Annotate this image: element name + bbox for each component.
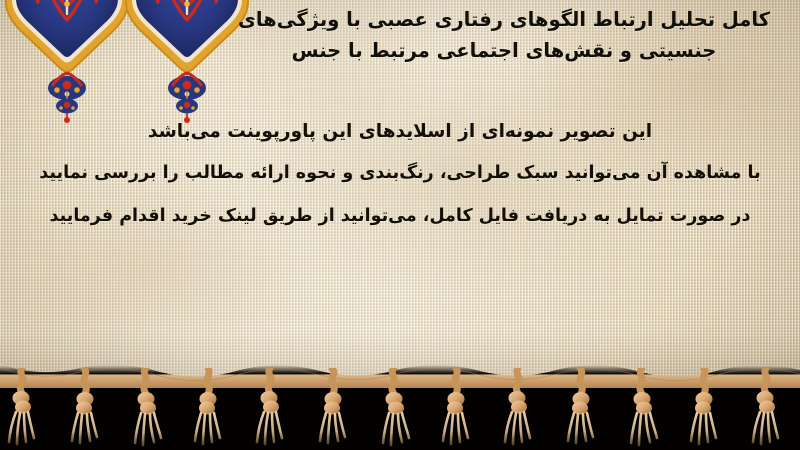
black-backdrop xyxy=(0,380,800,450)
slide-title: کامل تحلیل ارتباط الگوهای رفتاری عصبی با… xyxy=(224,4,784,66)
slide-title-line-1: کامل تحلیل ارتباط الگوهای رفتاری عصبی با… xyxy=(224,4,784,35)
slide-canvas: کامل تحلیل ارتباط الگوهای رفتاری عصبی با… xyxy=(0,0,800,450)
body-line-3: در صورت تمایل به دریافت فایل کامل، می‌تو… xyxy=(0,195,800,238)
slide-body: این تصویر نمونه‌ای از اسلایدهای این پاور… xyxy=(0,112,800,238)
body-line-1: این تصویر نمونه‌ای از اسلایدهای این پاور… xyxy=(0,112,800,152)
slide-title-line-2: جنسیتی و نقش‌های اجتماعی مرتبط با جنس xyxy=(224,35,784,66)
body-line-2: با مشاهده آن می‌توانید سبک طراحی، رنگ‌بن… xyxy=(0,152,800,195)
